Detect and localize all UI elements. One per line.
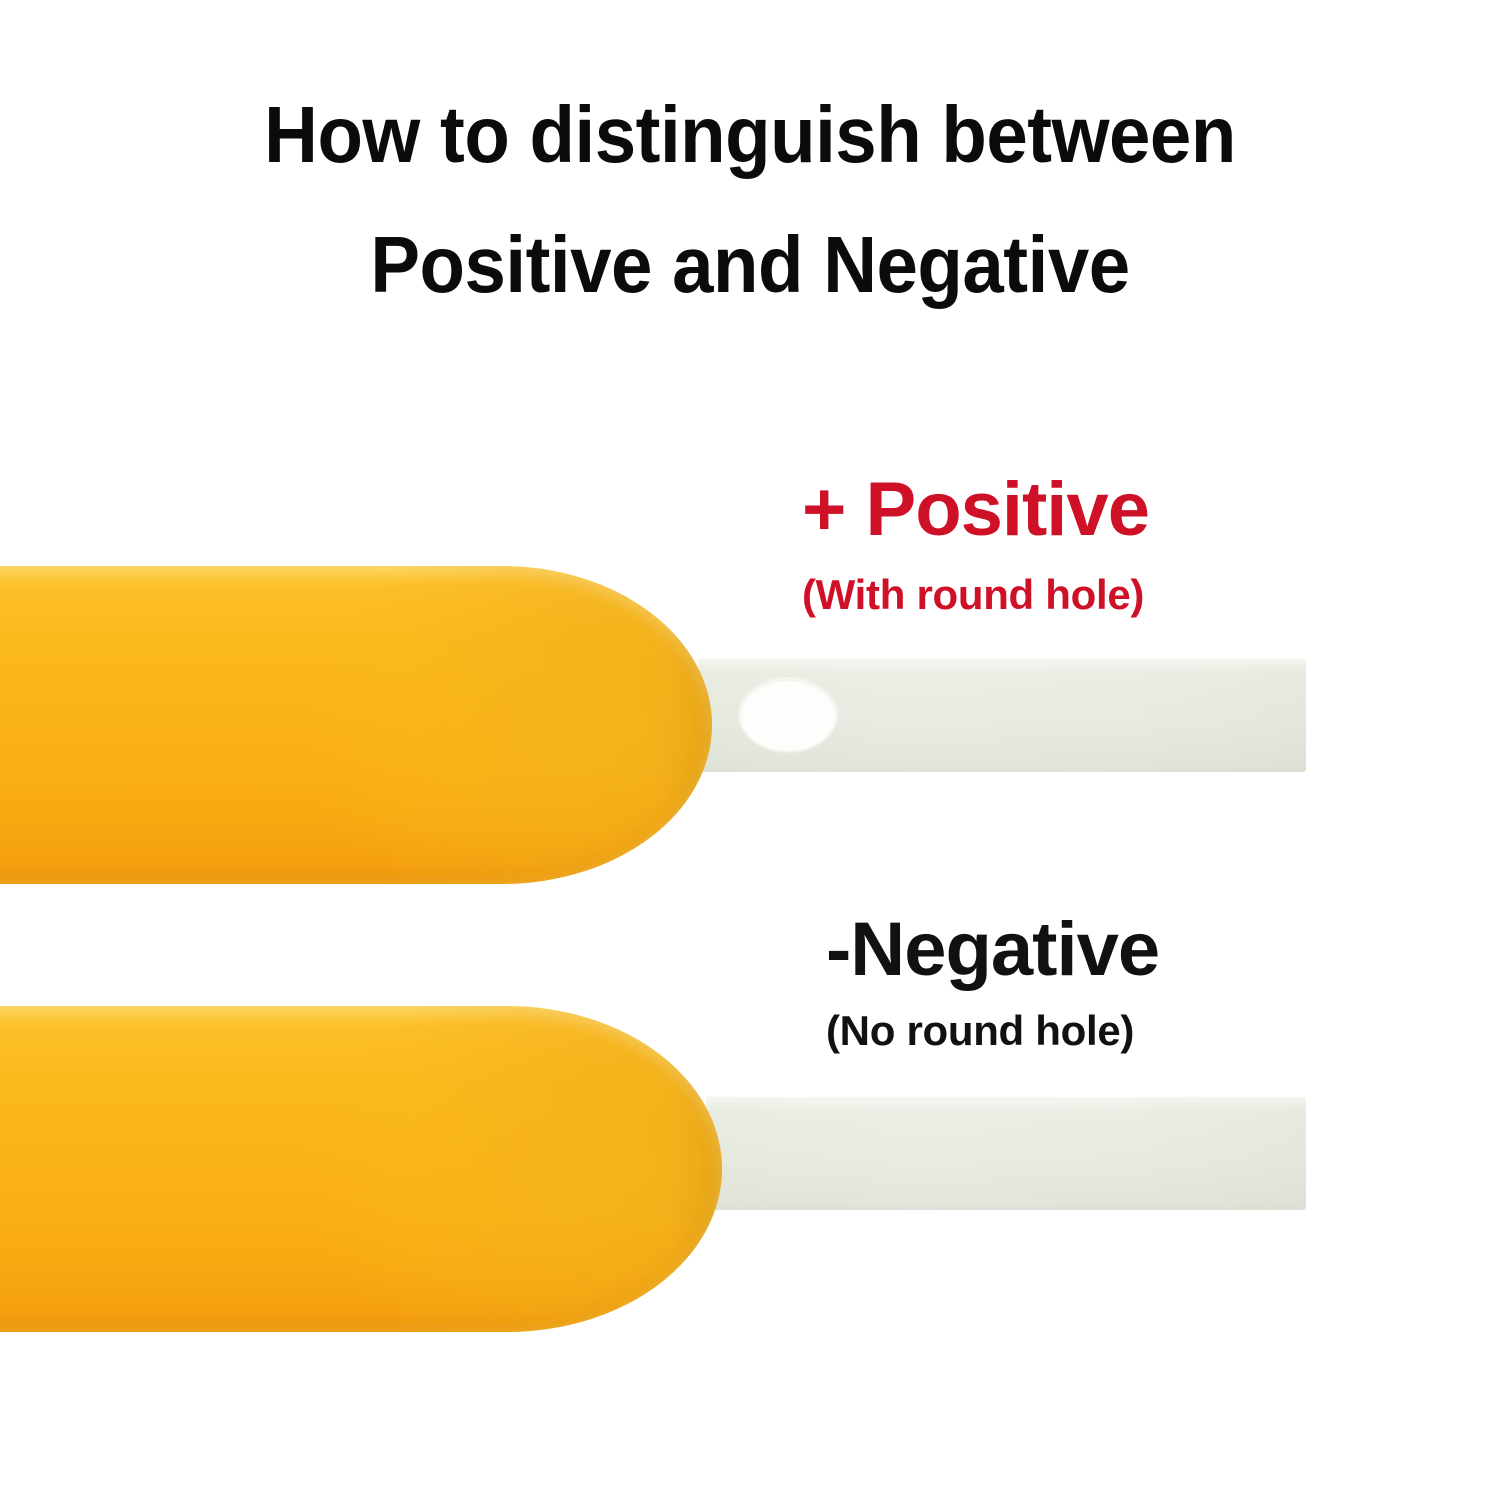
positive-label: + Positive — [802, 472, 1149, 548]
round-hole-icon — [740, 679, 836, 751]
instruction-graphic: How to distinguish between Positive and … — [0, 0, 1500, 1500]
negative-label-group: -Negative (No round hole) — [826, 912, 1159, 1052]
page-title-line-1: How to distinguish between — [53, 70, 1448, 200]
positive-sublabel: (With round hole) — [802, 574, 1149, 616]
yellow-swab-head-positive — [0, 566, 712, 884]
yellow-swab-head-negative — [0, 1006, 722, 1332]
negative-sublabel: (No round hole) — [826, 1010, 1159, 1052]
positive-label-group: + Positive (With round hole) — [802, 472, 1149, 616]
page-title: How to distinguish between Positive and … — [0, 70, 1500, 329]
plastic-strip-negative — [706, 1096, 1306, 1210]
page-title-line-2: Positive and Negative — [53, 200, 1448, 330]
negative-label: -Negative — [826, 912, 1159, 988]
